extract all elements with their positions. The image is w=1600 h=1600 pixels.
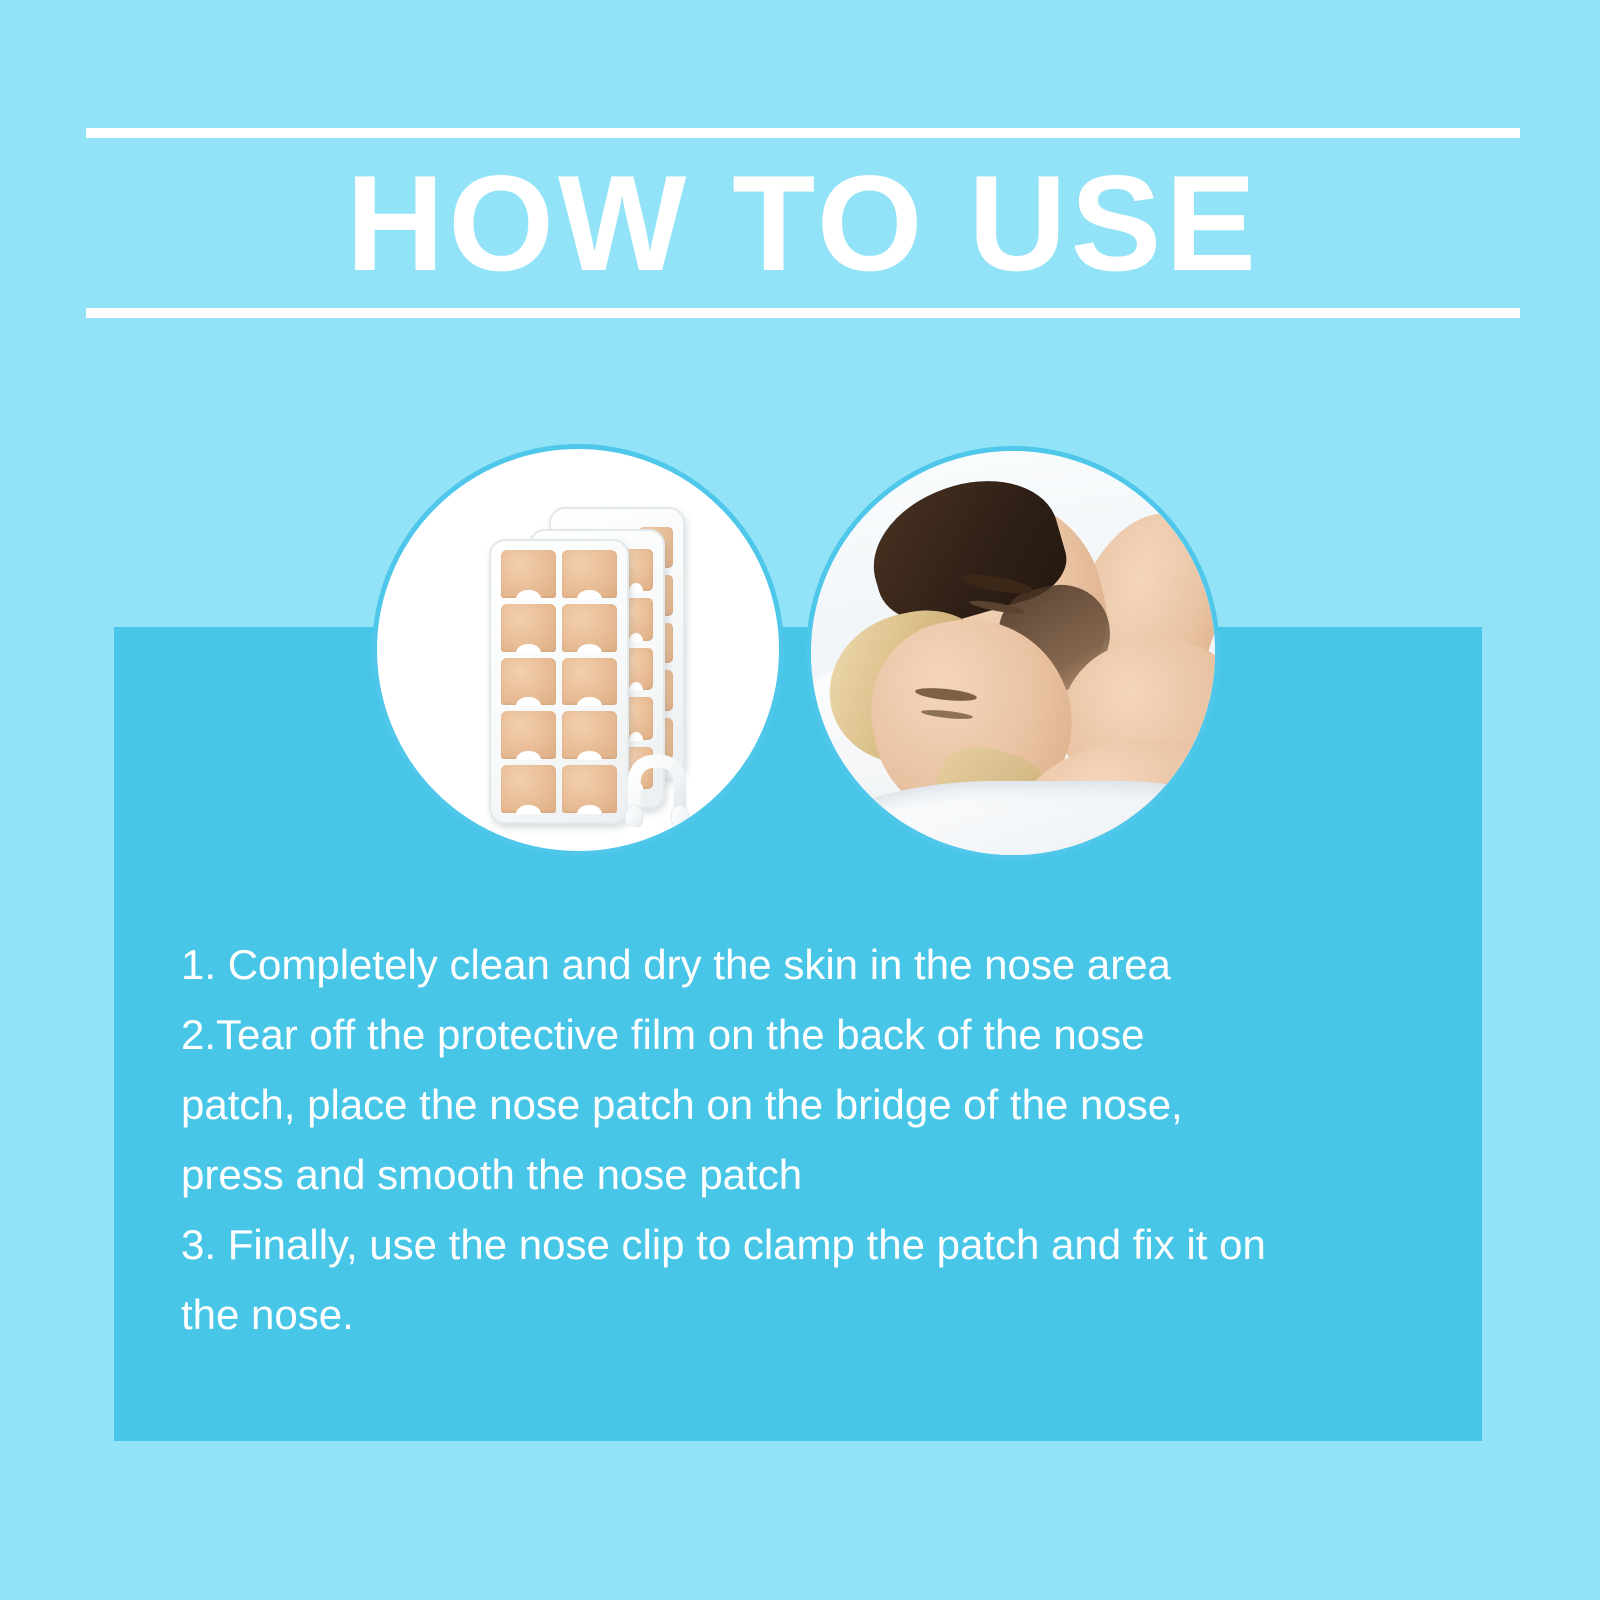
nose-patch — [562, 711, 617, 759]
couple-photo-circle — [806, 446, 1220, 860]
page-title: HOW TO USE — [86, 138, 1520, 308]
instruction-line: 2.Tear off the protective film on the ba… — [181, 1000, 1421, 1070]
header: HOW TO USE — [86, 128, 1520, 318]
nose-clip-icon — [620, 749, 694, 827]
how-to-use-poster: HOW TO USE — [0, 0, 1600, 1600]
nose-patch — [501, 711, 556, 759]
product-photo-circle — [372, 444, 784, 856]
nose-patch — [501, 658, 556, 706]
instructions-text: 1. Completely clean and dry the skin in … — [181, 930, 1421, 1350]
nose-patch — [562, 604, 617, 652]
nose-patch — [501, 765, 556, 813]
nose-patch — [562, 550, 617, 598]
nose-patch-sheets-photo — [377, 449, 779, 851]
instruction-line: patch, place the nose patch on the bridg… — [181, 1070, 1421, 1140]
nose-patch — [501, 550, 556, 598]
nose-patch — [501, 604, 556, 652]
title-rule-bottom — [86, 308, 1520, 318]
instruction-line: 3. Finally, use the nose clip to clamp t… — [181, 1210, 1421, 1280]
instruction-line: press and smooth the nose patch — [181, 1140, 1421, 1210]
patch-sheet-front — [489, 539, 629, 824]
title-rule-top — [86, 128, 1520, 138]
instruction-line: 1. Completely clean and dry the skin in … — [181, 930, 1421, 1000]
nose-patch — [562, 765, 617, 813]
sleeping-couple-photo — [811, 451, 1215, 855]
instruction-line: the nose. — [181, 1280, 1421, 1350]
nose-patch — [562, 658, 617, 706]
